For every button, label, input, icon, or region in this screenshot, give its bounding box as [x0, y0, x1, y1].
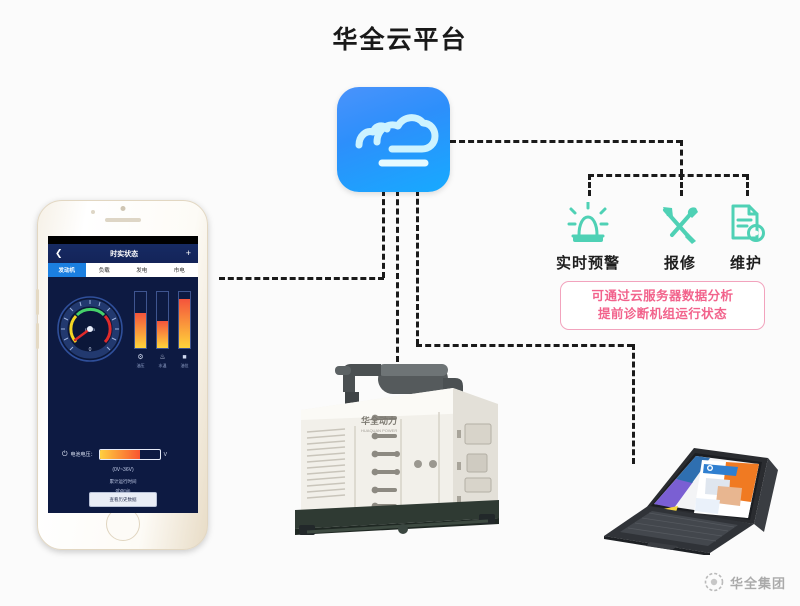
connector-services-drop [680, 140, 683, 175]
battery-range: (0V~36V) [48, 467, 198, 473]
fuel-level-icon: ■ [178, 354, 191, 361]
app-tabs: 发动机 负载 发电 市电 [48, 263, 198, 277]
service-item-maintenance[interactable]: 维护 [700, 196, 792, 273]
plus-icon[interactable]: + [186, 249, 191, 258]
note-line-2: 提前诊断机组运行状态 [563, 305, 762, 323]
note-line-1: 可通过云服务器数据分析 [563, 287, 762, 305]
meter-tube [178, 291, 191, 349]
connector-cloud-to-phone-horizontal [219, 277, 384, 280]
phone-volume-button[interactable] [36, 289, 39, 315]
tab-generation[interactable]: 发电 [123, 263, 161, 277]
status-bar [48, 236, 198, 244]
connector-cloud-to-phone-vertical [382, 190, 385, 278]
connector-cloud-to-generator [396, 190, 399, 362]
water-temp-icon: ♨ [156, 354, 169, 361]
phone-sensor [91, 210, 95, 214]
view-history-button[interactable]: 查看历史数据 [89, 492, 157, 507]
svg-text:华全动力: 华全动力 [361, 415, 397, 426]
connector-service-2-drop [680, 174, 683, 196]
battery-icon: ⏻ [62, 451, 68, 459]
alarm-light-icon [542, 196, 634, 246]
battery-unit: V [164, 452, 167, 458]
connector-services-bus [588, 174, 748, 177]
meter-tube [156, 291, 169, 349]
cloud-platform-icon[interactable] [337, 87, 450, 192]
connector-cloud-to-laptop-vertical [416, 190, 419, 345]
battery-fill [100, 450, 141, 459]
meter-label: 油位 [178, 363, 191, 369]
meter-fill [179, 299, 190, 348]
battery-voltage-row: ⏻ 电池电压： V [62, 449, 167, 460]
meter-label: 水温 [156, 363, 169, 369]
connector-cloud-to-services [450, 140, 682, 143]
cloud-analysis-note: 可通过云服务器数据分析 提前诊断机组运行状态 [560, 281, 765, 330]
meter-tube [134, 291, 147, 349]
watermark: 华全集团 [704, 572, 786, 592]
battery-gauge [99, 449, 161, 460]
meter-label: 油压 [134, 363, 147, 369]
diesel-generator-set: 华全动力 HUAQUAN POWER [283, 352, 518, 544]
phone-earpiece [105, 218, 141, 222]
phone-volume-down-button[interactable] [36, 323, 39, 349]
connector-cloud-to-laptop-horizontal [416, 344, 633, 347]
tab-load[interactable]: 负载 [86, 263, 124, 277]
phone-front-camera [120, 206, 125, 211]
connector-service-1-drop [588, 174, 591, 196]
tab-mains[interactable]: 市电 [161, 263, 199, 277]
tab-engine[interactable]: 发动机 [48, 263, 86, 277]
meter-oil-pressure: ⚙ 油压 [134, 291, 147, 369]
laptop-computer [598, 440, 788, 555]
service-label: 实时预警 [542, 252, 634, 273]
cloud-icon [337, 87, 450, 192]
meter-fill [135, 313, 146, 348]
runtime-label: 累计运行时间 [48, 479, 198, 486]
document-gear-icon [700, 196, 792, 246]
canopy: 华全动力 HUAQUAN POWER [301, 388, 498, 515]
service-label: 维护 [700, 252, 792, 273]
service-item-realtime-alert[interactable]: 实时预警 [542, 196, 634, 273]
meter-fuel-level: ■ 油位 [178, 291, 191, 369]
svg-text:HUAQUAN POWER: HUAQUAN POWER [361, 428, 397, 433]
diagram-canvas: 华全云平台 [0, 0, 800, 606]
meter-fill [157, 321, 168, 348]
watermark-text: 华全集团 [730, 573, 786, 592]
oil-pressure-icon: ⚙ [134, 354, 147, 361]
app-title: 时实状态 [110, 249, 138, 259]
rpm-gauge: r/min 0 [56, 295, 124, 363]
meter-water-temp: ♨ 水温 [156, 291, 169, 369]
phone-screen: ❮ 时实状态 + 发动机 负载 发电 市电 [48, 236, 198, 513]
meter-bars: ⚙ 油压 ♨ 水温 ■ 油位 [134, 291, 191, 369]
connector-service-3-drop [746, 174, 749, 196]
battery-label: 电池电压： [71, 451, 96, 458]
page-title: 华全云平台 [0, 20, 800, 56]
app-header: ❮ 时实状态 + [48, 244, 198, 263]
back-arrow-icon[interactable]: ❮ [55, 249, 63, 258]
smartphone-device: ❮ 时实状态 + 发动机 负载 发电 市电 [37, 200, 208, 550]
svg-text:0: 0 [89, 347, 92, 353]
gauge-section: r/min 0 ⚙ 油压 [48, 277, 198, 382]
company-logo-icon [704, 572, 724, 592]
